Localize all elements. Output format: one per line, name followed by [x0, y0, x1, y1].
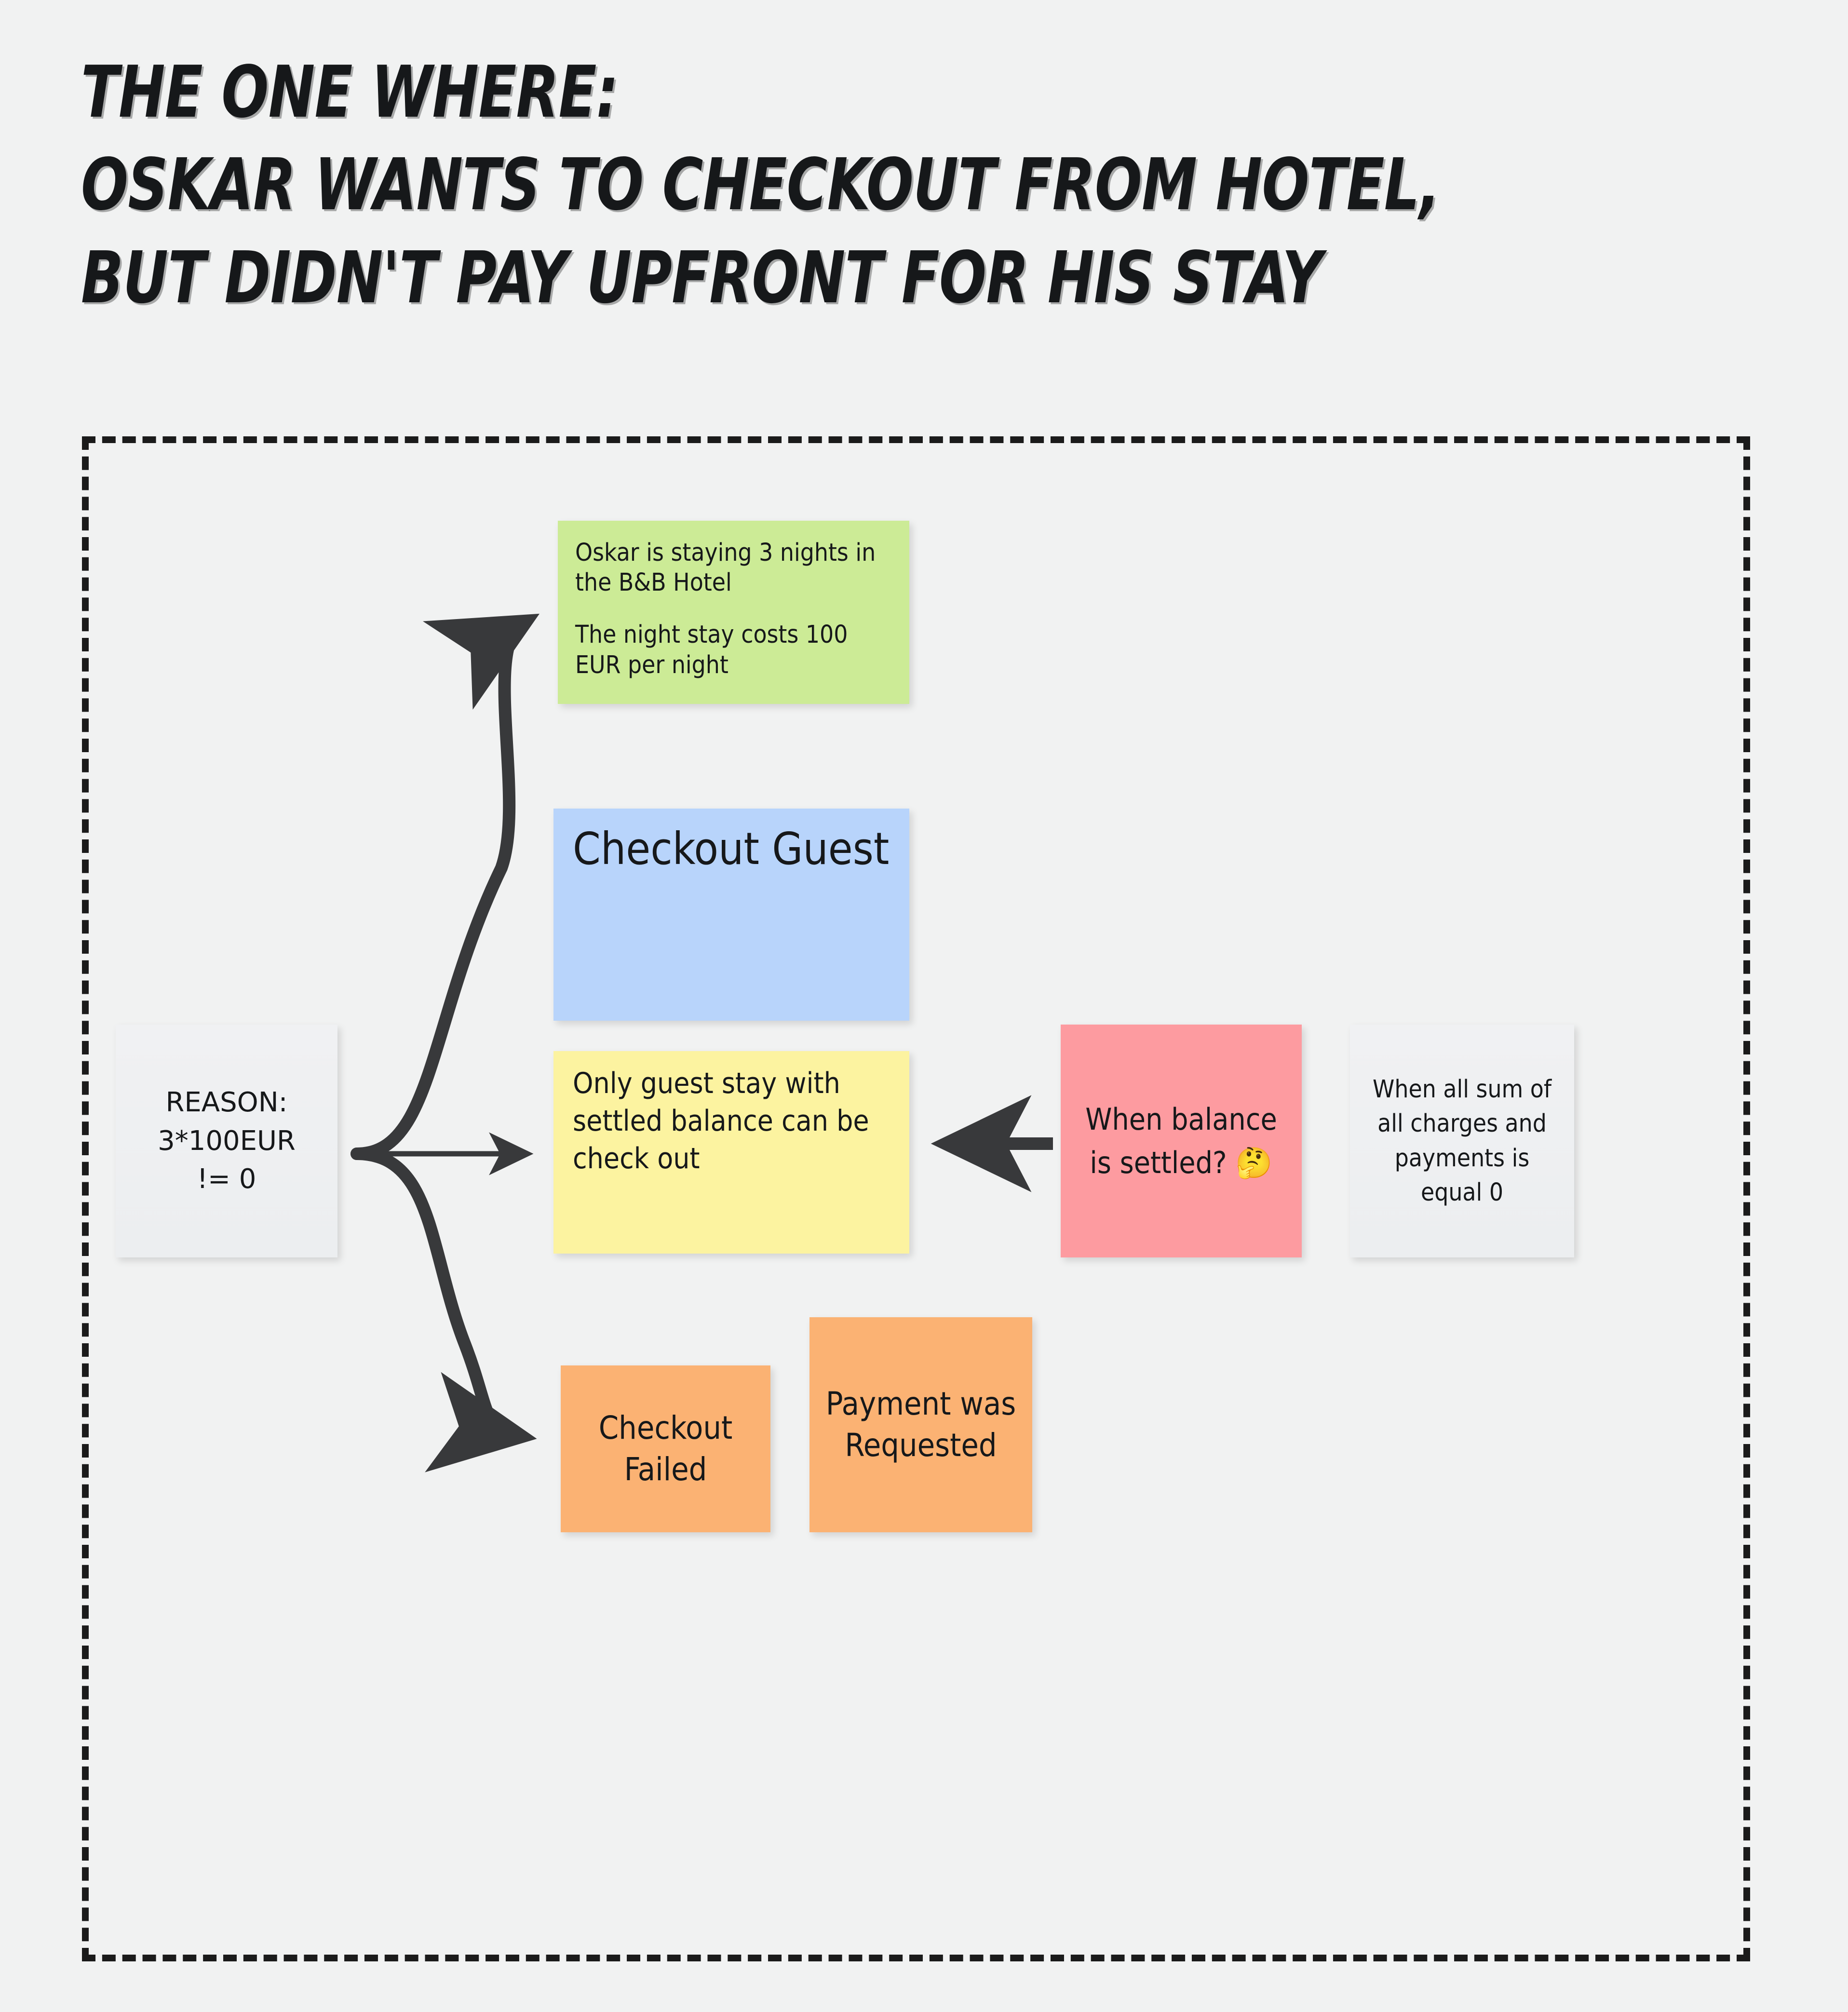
sticky-note-question[interactable]: When balance is settled? 🤔	[1061, 1025, 1302, 1257]
sticky-note-checkout-failed[interactable]: Checkout Failed	[561, 1365, 770, 1532]
title-line-1: The One Where:	[81, 46, 1209, 138]
sticky-note-policy[interactable]: Only guest stay with settled balance can…	[553, 1051, 909, 1254]
checkout-failed-label: Checkout Failed	[571, 1407, 760, 1490]
policy-label: Only guest stay with settled balance can…	[573, 1065, 890, 1177]
page-title: The One Where: Oskar wants to checkout f…	[81, 46, 1527, 324]
title-line-2: Oskar wants to checkout from hotel,	[81, 138, 1209, 231]
context-line-2: The night stay costs 100 EUR per night	[575, 620, 892, 680]
thinking-face-icon: 🤔	[1235, 1145, 1272, 1180]
context-line-1: Oskar is staying 3 nights in the B&B Hot…	[575, 538, 892, 598]
context-spacer	[575, 598, 892, 620]
reason-line-3: != 0	[197, 1160, 256, 1199]
sticky-note-payment-requested[interactable]: Payment was Requested	[809, 1317, 1032, 1532]
command-label: Checkout Guest	[573, 820, 890, 878]
sticky-note-reason[interactable]: REASON: 3*100EUR != 0	[116, 1025, 337, 1257]
title-line-3: but didn't pay upfront for his stay	[81, 231, 1209, 324]
answer-label: When all sum of all charges and payments…	[1362, 1072, 1563, 1210]
reason-line-1: REASON:	[166, 1083, 288, 1122]
sticky-note-answer[interactable]: When all sum of all charges and payments…	[1350, 1025, 1574, 1257]
payment-requested-label: Payment was Requested	[820, 1383, 1022, 1466]
question-label: When balance is settled? 🤔	[1073, 1098, 1289, 1185]
board-canvas: The One Where: Oskar wants to checkout f…	[0, 0, 1848, 2012]
sticky-note-command[interactable]: Checkout Guest	[553, 809, 909, 1021]
sticky-note-context[interactable]: Oskar is staying 3 nights in the B&B Hot…	[558, 521, 909, 704]
reason-line-2: 3*100EUR	[158, 1122, 296, 1161]
